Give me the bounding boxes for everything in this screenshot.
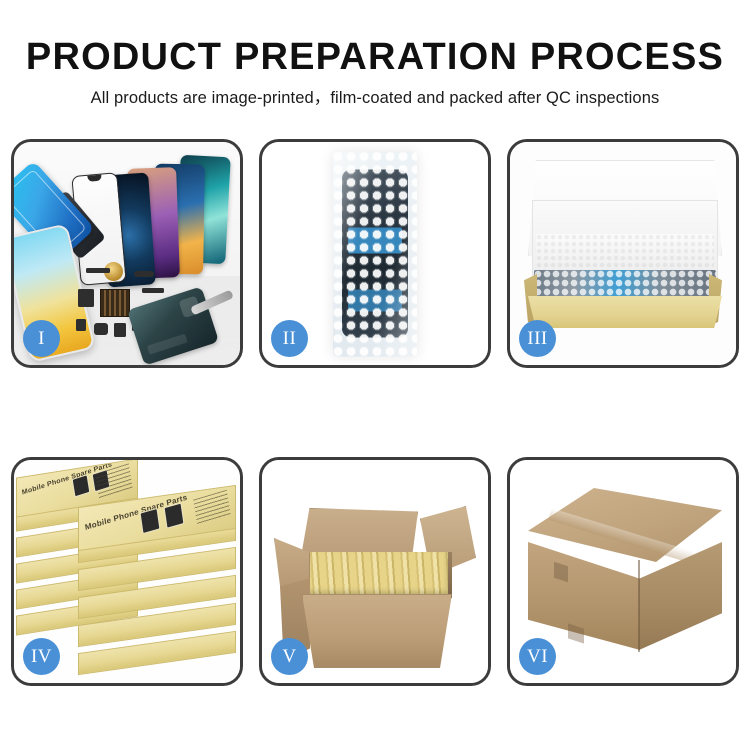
vibrator-part-icon	[94, 323, 108, 335]
steps-grid: I II	[11, 139, 739, 686]
step-panel-2: II	[259, 139, 491, 368]
chip-grid-part-icon	[100, 289, 130, 317]
foam-liner-icon	[536, 234, 714, 270]
battery-connector-part-icon	[114, 323, 126, 337]
screen-artwork-icon	[164, 502, 185, 528]
flex-cable-part-icon	[86, 268, 110, 273]
screen-artwork-icon	[140, 508, 161, 534]
step-badge-2: II	[271, 320, 308, 357]
packed-product-icon	[534, 270, 716, 298]
carton-front	[302, 594, 452, 668]
step-badge-1: I	[23, 320, 60, 357]
page-subtitle: All products are image-printed，film-coat…	[0, 84, 750, 108]
connector-part-icon	[134, 271, 154, 277]
step-panel-6: VI	[507, 457, 739, 686]
product-preparation-infographic: PRODUCT PREPARATION PROCESS All products…	[0, 0, 750, 750]
box-front-panel	[528, 296, 722, 328]
film-sheen	[333, 151, 417, 356]
step-panel-1: I	[11, 139, 243, 368]
step-badge-3: III	[519, 320, 556, 357]
spec-lines	[193, 490, 231, 525]
page-title: PRODUCT PREPARATION PROCESS	[0, 36, 750, 79]
step-badge-6: VI	[519, 638, 556, 675]
sim-tray-part-icon	[76, 319, 86, 331]
header: PRODUCT PREPARATION PROCESS All products…	[0, 0, 750, 122]
carton-edge	[638, 560, 640, 652]
step-panel-4: Mobile Phone Spare Parts Mobile Phone Sp…	[11, 457, 243, 686]
yellow-boxes-inside-icon	[306, 552, 448, 596]
step-badge-5: V	[271, 638, 308, 675]
camera-part-icon	[78, 289, 94, 307]
step-panel-3: III	[507, 139, 739, 368]
step-panel-5: V	[259, 457, 491, 686]
button-flex-part-icon	[142, 288, 164, 293]
step-badge-4: IV	[23, 638, 60, 675]
screen-artwork-icon	[72, 474, 91, 497]
